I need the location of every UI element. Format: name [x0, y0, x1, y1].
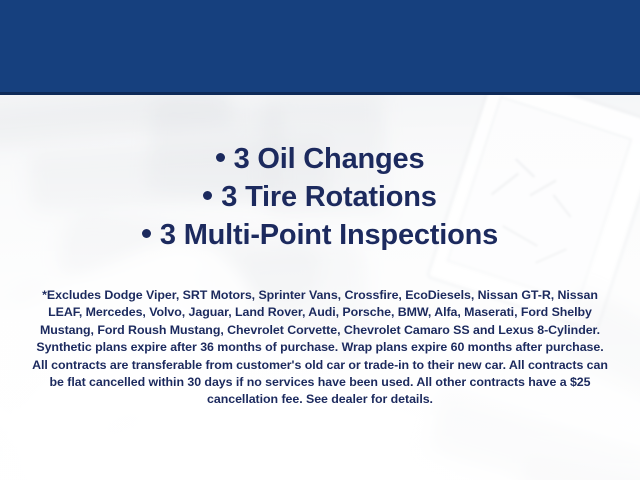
- benefit-label: 3 Oil Changes: [234, 143, 425, 175]
- benefit-label: 3 Tire Rotations: [221, 181, 436, 213]
- list-item: 3 Oil Changes: [0, 140, 640, 178]
- list-item: 3 Multi-Point Inspections: [0, 216, 640, 254]
- benefits-list: 3 Oil Changes 3 Tire Rotations 3 Multi-P…: [0, 140, 640, 254]
- extracare-package-ad: ExtraCare Package* 3 Oil Changes 3 Tire …: [0, 0, 640, 480]
- bullet-dot-icon: [142, 229, 151, 238]
- list-item: 3 Tire Rotations: [0, 178, 640, 216]
- disclaimer-text: *Excludes Dodge Viper, SRT Motors, Sprin…: [30, 287, 610, 409]
- benefit-label: 3 Multi-Point Inspections: [160, 219, 498, 251]
- header-banner: [0, 0, 640, 92]
- bullet-dot-icon: [203, 191, 212, 200]
- header-divider: [0, 92, 640, 95]
- disclaimer-paragraph: *Excludes Dodge Viper, SRT Motors, Sprin…: [30, 287, 610, 409]
- bullet-dot-icon: [216, 153, 225, 162]
